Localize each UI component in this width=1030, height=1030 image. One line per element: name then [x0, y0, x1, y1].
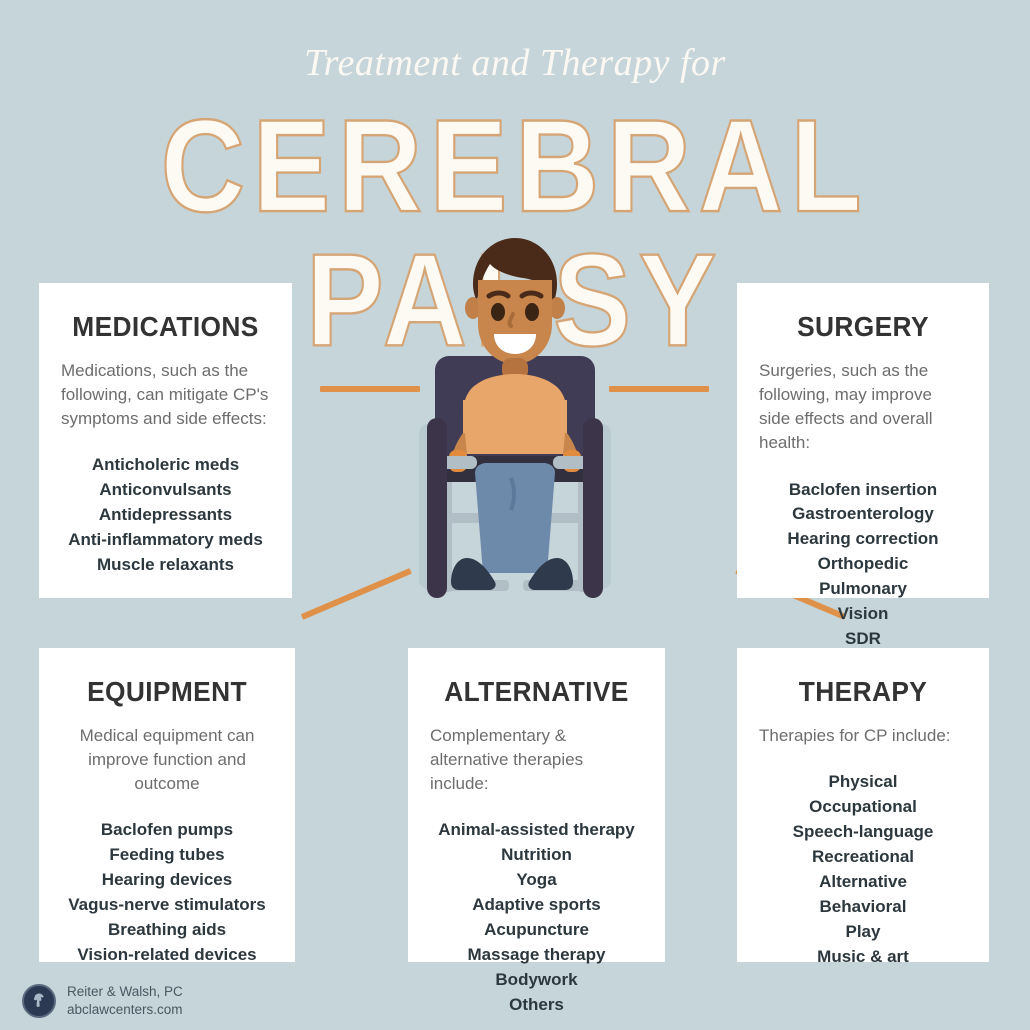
list-item: Breathing aids	[53, 918, 281, 943]
list-item: Others	[422, 993, 651, 1018]
card-equipment[interactable]: EQUIPMENT Medical equipment can improve …	[39, 648, 295, 962]
card-therapy[interactable]: THERAPY Therapies for CP include: Physic…	[737, 648, 989, 962]
list-item: Play	[751, 920, 975, 945]
footer-website: abclawcenters.com	[67, 1001, 183, 1018]
list-item: Hearing correction	[751, 527, 975, 552]
list-item: Yoga	[422, 868, 651, 893]
boy-in-wheelchair-illustration	[405, 228, 625, 618]
list-item: Animal-assisted therapy	[422, 818, 651, 843]
card-description-medications: Medications, such as the following, can …	[53, 359, 278, 431]
footer-branding[interactable]: Reiter & Walsh, PC abclawcenters.com	[22, 983, 183, 1018]
list-item: Acupuncture	[422, 918, 651, 943]
card-surgery[interactable]: SURGERY Surgeries, such as the following…	[737, 283, 989, 598]
list-item: Speech-language	[751, 820, 975, 845]
card-list-medications: Anticholeric medsAnticonvulsantsAntidepr…	[53, 453, 278, 578]
card-title-equipment: EQUIPMENT	[60, 676, 274, 708]
list-item: Vagus-nerve stimulators	[53, 893, 281, 918]
card-description-alternative: Complementary & alternative therapies in…	[422, 724, 651, 796]
header-subtitle: Treatment and Therapy for	[0, 44, 1030, 82]
list-item: Vision	[751, 602, 975, 627]
card-title-therapy: THERAPY	[758, 676, 969, 708]
card-description-equipment: Medical equipment can improve function a…	[53, 724, 281, 796]
list-item: Anti-inflammatory meds	[53, 528, 278, 553]
list-item: Anticonvulsants	[53, 478, 278, 503]
list-item: Occupational	[751, 795, 975, 820]
footer-company: Reiter & Walsh, PC	[67, 983, 183, 1000]
card-list-alternative: Animal-assisted therapyNutritionYogaAdap…	[422, 818, 651, 1018]
card-description-surgery: Surgeries, such as the following, may im…	[751, 359, 975, 456]
footer-text: Reiter & Walsh, PC abclawcenters.com	[67, 983, 183, 1018]
card-description-therapy: Therapies for CP include:	[751, 724, 975, 748]
card-title-medications: MEDICATIONS	[60, 311, 272, 343]
card-medications[interactable]: MEDICATIONS Medications, such as the fol…	[39, 283, 292, 598]
infographic-canvas: Treatment and Therapy for CEREBRAL PALSY	[0, 0, 1030, 1030]
card-list-therapy: PhysicalOccupationalSpeech-languageRecre…	[751, 770, 975, 970]
list-item: Alternative	[751, 870, 975, 895]
list-item: Music & art	[751, 945, 975, 970]
list-item: Anticholeric meds	[53, 453, 278, 478]
list-item: Nutrition	[422, 843, 651, 868]
list-item: Baclofen insertion	[751, 478, 975, 503]
card-list-equipment: Baclofen pumpsFeeding tubesHearing devic…	[53, 818, 281, 968]
list-item: Antidepressants	[53, 503, 278, 528]
shield-figure-logo-icon	[22, 984, 56, 1018]
card-alternative[interactable]: ALTERNATIVE Complementary & alternative …	[408, 648, 665, 962]
list-item: Behavioral	[751, 895, 975, 920]
list-item: Recreational	[751, 845, 975, 870]
list-item: Bodywork	[422, 968, 651, 993]
card-list-surgery: Baclofen insertionGastroenterologyHearin…	[751, 478, 975, 653]
list-item: Muscle relaxants	[53, 553, 278, 578]
list-item: Hearing devices	[53, 868, 281, 893]
list-item: Gastroenterology	[751, 502, 975, 527]
card-title-alternative: ALTERNATIVE	[429, 676, 644, 708]
list-item: Vision-related devices	[53, 943, 281, 968]
list-item: Baclofen pumps	[53, 818, 281, 843]
list-item: Pulmonary	[751, 577, 975, 602]
list-item: Feeding tubes	[53, 843, 281, 868]
connector-line-bottom-left	[301, 568, 412, 620]
list-item: Adaptive sports	[422, 893, 651, 918]
card-title-surgery: SURGERY	[758, 311, 969, 343]
list-item: Orthopedic	[751, 552, 975, 577]
list-item: Physical	[751, 770, 975, 795]
list-item: Massage therapy	[422, 943, 651, 968]
